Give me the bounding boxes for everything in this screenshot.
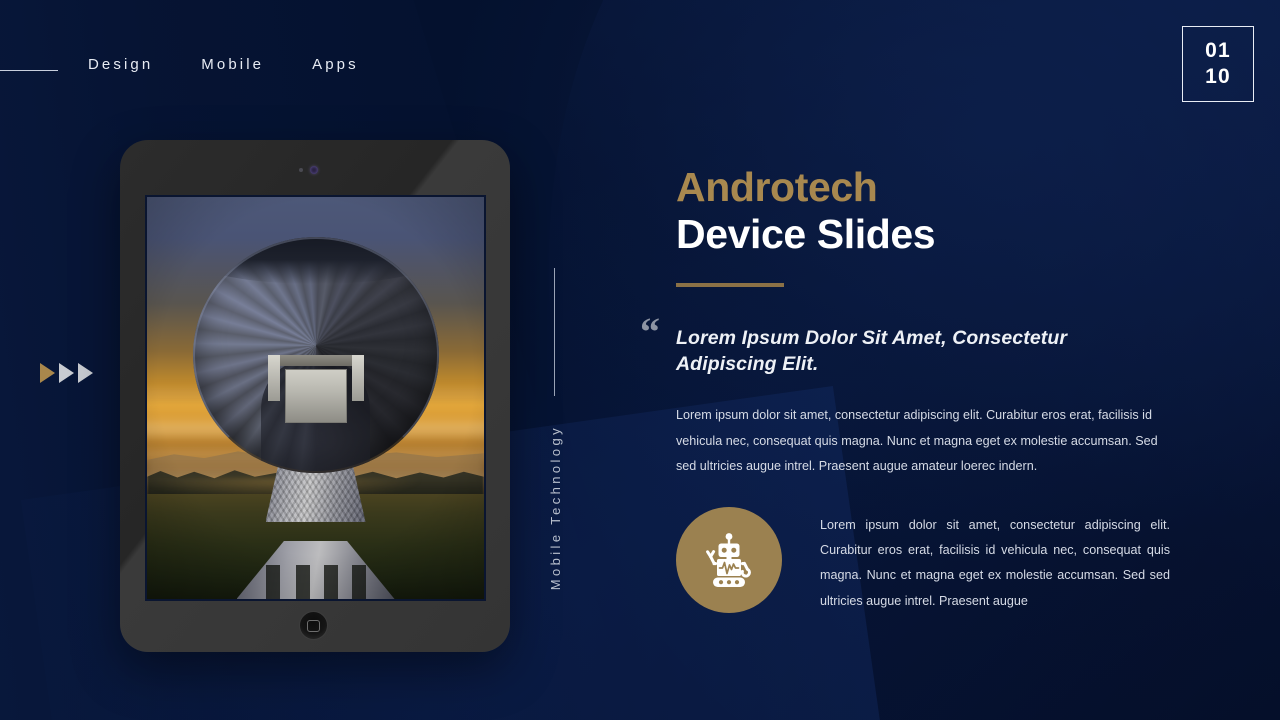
page-current: 01 bbox=[1205, 39, 1231, 64]
page-indicator: 01 10 bbox=[1182, 26, 1254, 102]
vertical-divider-line bbox=[554, 268, 555, 396]
robot-icon bbox=[702, 532, 756, 588]
quote-mark-icon: “ bbox=[640, 312, 660, 352]
nav-item-design[interactable]: Design bbox=[88, 56, 153, 73]
tablet-sensor bbox=[299, 168, 303, 172]
satellite-dish-photo bbox=[147, 197, 484, 599]
feature-paragraph: Lorem ipsum dolor sit amet, consectetur … bbox=[820, 507, 1170, 614]
page-title-accent: Androtech bbox=[676, 165, 1196, 209]
play-arrow-icon-3[interactable] bbox=[78, 363, 93, 383]
tablet-camera-icon bbox=[310, 166, 318, 174]
tablet-home-button[interactable] bbox=[299, 611, 328, 640]
vertical-label: Mobile Technology bbox=[548, 425, 563, 590]
page-total: 10 bbox=[1205, 65, 1231, 90]
body-paragraph: Lorem ipsum dolor sit amet, consectetur … bbox=[676, 403, 1176, 479]
robot-icon-badge bbox=[676, 507, 782, 613]
feature-row: Lorem ipsum dolor sit amet, consectetur … bbox=[676, 507, 1196, 614]
play-arrow-icon-1[interactable] bbox=[40, 363, 55, 383]
title-underline bbox=[676, 283, 784, 287]
content-column: Androtech Device Slides “ Lorem Ipsum Do… bbox=[676, 165, 1196, 614]
top-nav: Design Mobile Apps bbox=[88, 56, 359, 73]
tablet-screen[interactable] bbox=[145, 195, 486, 601]
carousel-arrows bbox=[40, 363, 93, 383]
nav-leading-rule bbox=[0, 70, 58, 71]
slide: Design Mobile Apps 01 10 bbox=[0, 0, 1280, 720]
nav-item-mobile[interactable]: Mobile bbox=[201, 56, 264, 73]
photo-vignette bbox=[147, 197, 484, 599]
page-title: Device Slides bbox=[676, 211, 1196, 259]
play-arrow-icon-2[interactable] bbox=[59, 363, 74, 383]
nav-item-apps[interactable]: Apps bbox=[312, 56, 359, 73]
quote-text: Lorem Ipsum Dolor Sit Amet, Consectetur … bbox=[676, 325, 1146, 378]
